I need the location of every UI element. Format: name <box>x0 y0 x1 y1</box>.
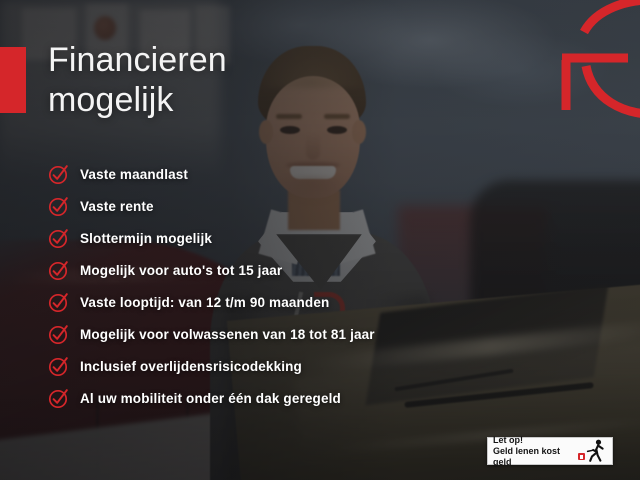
check-circle-icon <box>48 387 70 409</box>
list-item: Mogelijk voor volwassenen van 18 tot 81 … <box>48 318 478 350</box>
headline-line-2: mogelijk <box>48 80 378 120</box>
afm-red-marker-icon <box>578 453 585 460</box>
afm-warning-line-2: Geld lenen kost geld <box>493 446 575 468</box>
circular-arrow-icon <box>548 0 640 124</box>
red-accent-bar <box>0 47 26 113</box>
status-badge: Let op! Geld lenen kost geld <box>487 437 613 465</box>
walking-person-icon <box>585 439 607 463</box>
list-item: Slottermijn mogelijk <box>48 222 478 254</box>
list-item-label: Vaste rente <box>80 199 154 214</box>
list-item: Vaste looptijd: van 12 t/m 90 maanden <box>48 286 478 318</box>
list-item-label: Al uw mobiliteit onder één dak geregeld <box>80 391 341 406</box>
list-item: Vaste rente <box>48 190 478 222</box>
list-item-label: Mogelijk voor auto's tot 15 jaar <box>80 263 282 278</box>
check-circle-icon <box>48 195 70 217</box>
afm-warning-line-1: Let op! <box>493 435 585 446</box>
list-item-label: Vaste maandlast <box>80 167 188 182</box>
check-circle-icon <box>48 227 70 249</box>
list-item-label: Slottermijn mogelijk <box>80 231 212 246</box>
check-circle-icon <box>48 323 70 345</box>
headline-line-1: Financieren <box>48 40 378 80</box>
check-circle-icon <box>48 355 70 377</box>
list-item: Vaste maandlast <box>48 158 478 190</box>
list-item-label: Inclusief overlijdensrisicodekking <box>80 359 302 374</box>
financing-promo-banner: Financieren mogelijk Vaste maandlast Vas… <box>0 0 640 480</box>
feature-list: Vaste maandlast Vaste rente Slottermijn … <box>48 158 478 414</box>
list-item-label: Mogelijk voor volwassenen van 18 tot 81 … <box>80 327 375 342</box>
page-title: Financieren mogelijk <box>48 40 378 120</box>
list-item: Inclusief overlijdensrisicodekking <box>48 350 478 382</box>
check-circle-icon <box>48 163 70 185</box>
list-item-label: Vaste looptijd: van 12 t/m 90 maanden <box>80 295 329 310</box>
check-circle-icon <box>48 291 70 313</box>
list-item: Mogelijk voor auto's tot 15 jaar <box>48 254 478 286</box>
list-item: Al uw mobiliteit onder één dak geregeld <box>48 382 478 414</box>
afm-warning-text: Let op! Geld lenen kost geld <box>493 435 585 468</box>
check-circle-icon <box>48 259 70 281</box>
